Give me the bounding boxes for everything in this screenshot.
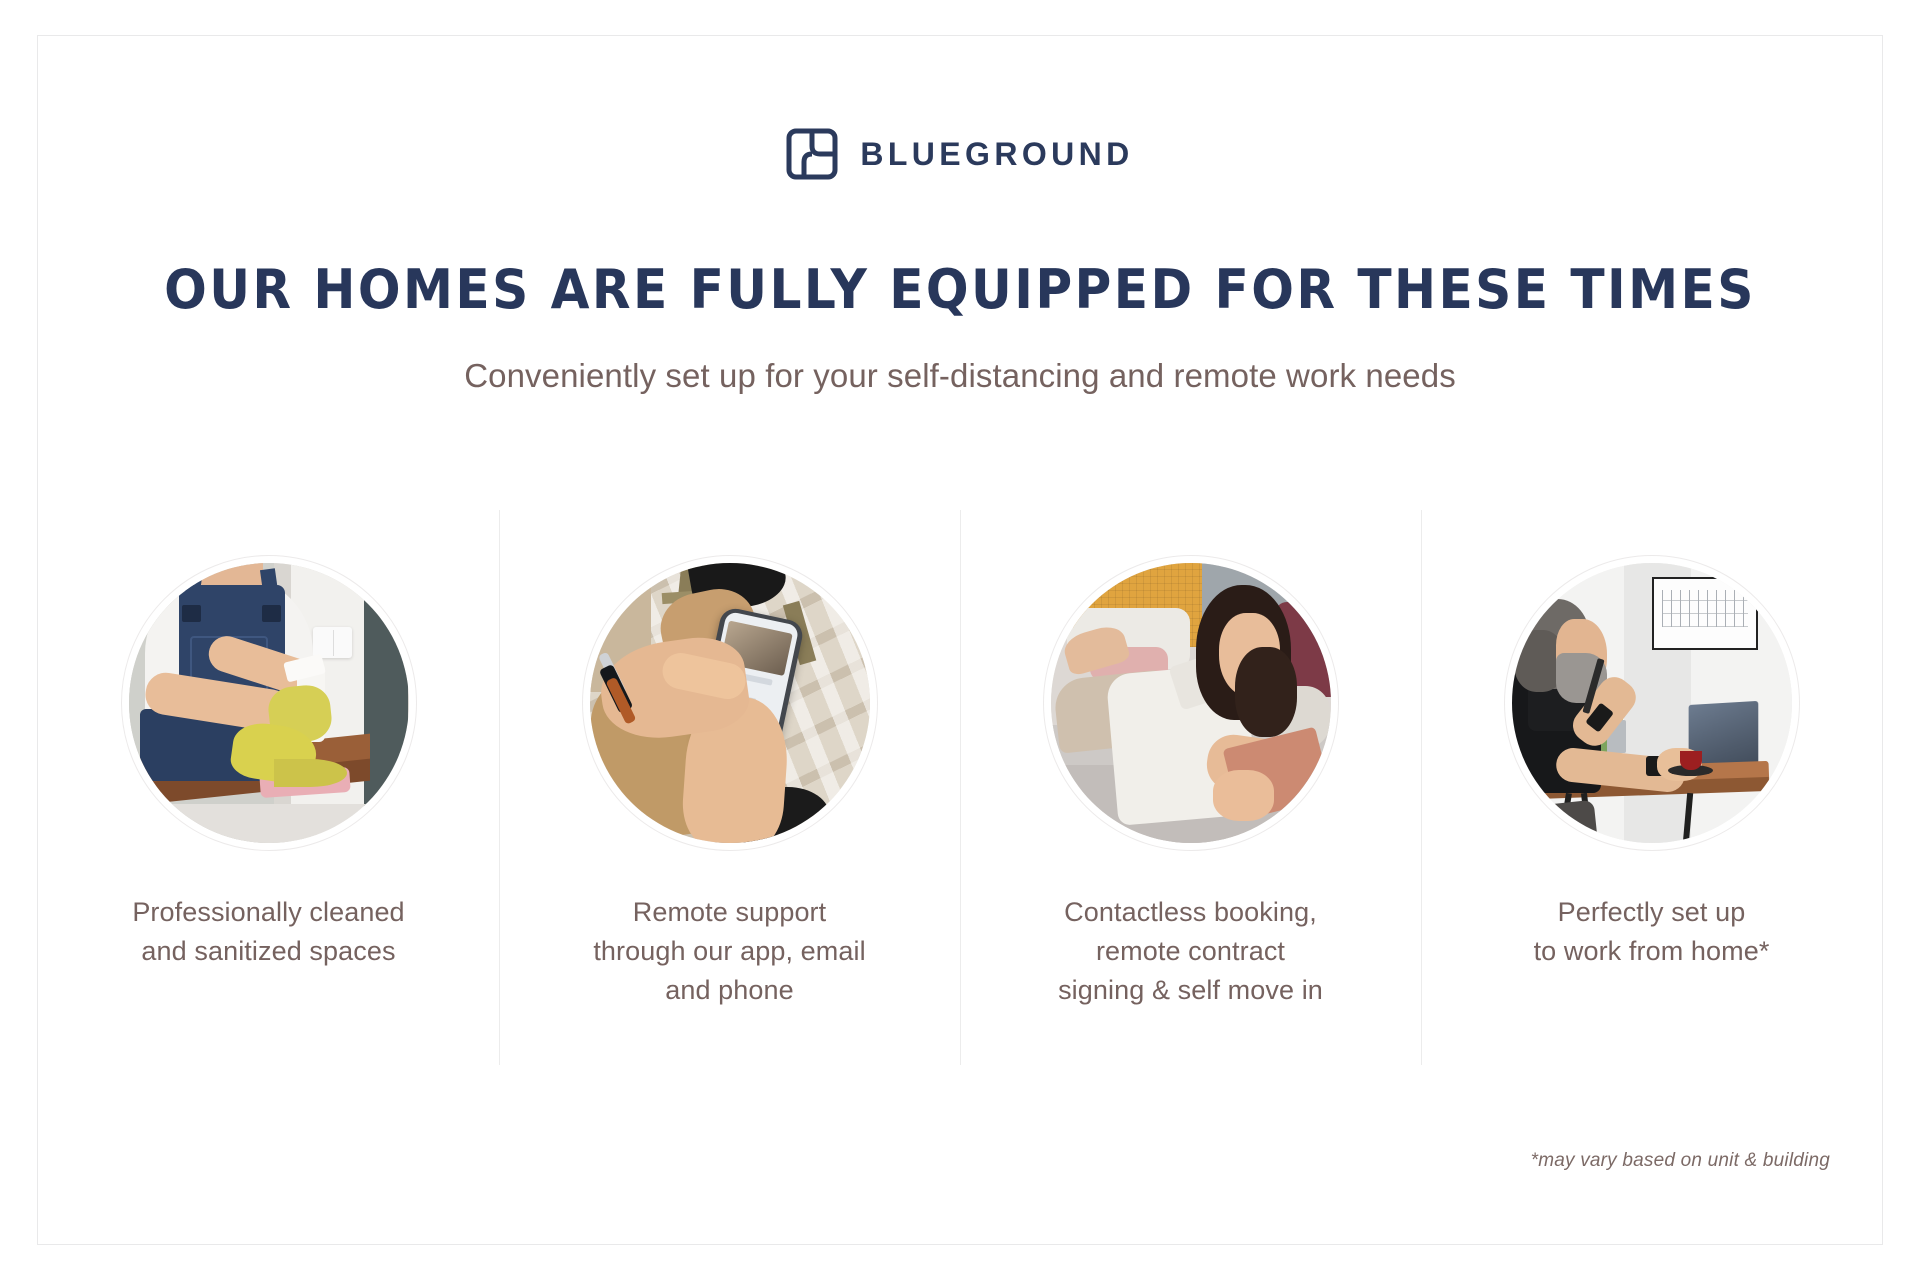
- infographic-page: BLUEGROUND OUR HOMES ARE FULLY EQUIPPED …: [0, 0, 1920, 1280]
- blueground-square-icon: [786, 128, 838, 180]
- feature-column-work-from-home: Perfectly set up to work from home*: [1421, 510, 1882, 1070]
- feature-caption: Professionally cleaned and sanitized spa…: [132, 893, 404, 971]
- feature-column-cleaning: Professionally cleaned and sanitized spa…: [38, 510, 499, 1070]
- feature-column-contactless-booking: Contactless booking, remote contract sig…: [960, 510, 1421, 1070]
- feature-caption: Perfectly set up to work from home*: [1534, 893, 1770, 971]
- feature-image-frame: [582, 555, 878, 851]
- page-subtitle: Conveniently set up for your self-distan…: [0, 357, 1920, 395]
- work-from-home-photo: [1512, 563, 1792, 843]
- footnote: *may vary based on unit & building: [1531, 1150, 1830, 1172]
- feature-caption: Remote support through our app, email an…: [593, 893, 865, 1010]
- feature-image-frame: [1043, 555, 1339, 851]
- tablet-bed-photo: [1051, 563, 1331, 843]
- feature-image-frame: [121, 555, 417, 851]
- brand-name: BLUEGROUND: [860, 138, 1133, 170]
- phone-app-photo: [590, 563, 870, 843]
- cleaning-photo: [129, 563, 409, 843]
- feature-image-frame: [1504, 555, 1800, 851]
- feature-caption: Contactless booking, remote contract sig…: [1058, 893, 1323, 1010]
- feature-column-remote-support: Remote support through our app, email an…: [499, 510, 960, 1070]
- feature-columns: Professionally cleaned and sanitized spa…: [38, 510, 1882, 1070]
- brand-logo: BLUEGROUND: [0, 128, 1920, 180]
- page-title: OUR HOMES ARE FULLY EQUIPPED FOR THESE T…: [67, 258, 1853, 321]
